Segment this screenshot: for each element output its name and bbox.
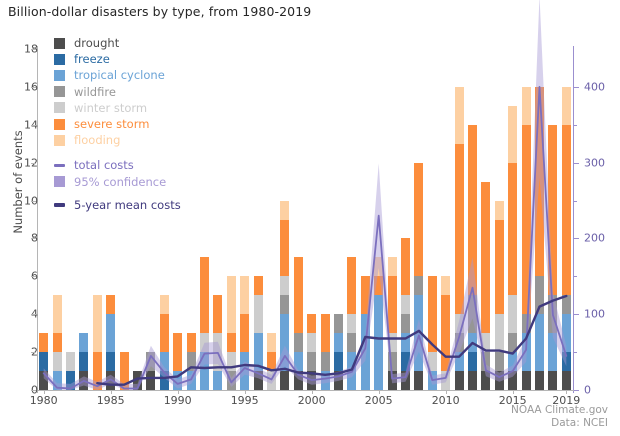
x-tick-mark-1990 — [178, 390, 179, 394]
x-tick-1990: 1990 — [164, 394, 192, 407]
y-tick-mark-right-300 — [574, 163, 579, 164]
x-axis-line — [37, 390, 574, 391]
credit-line-2: Data: NCEI — [511, 417, 608, 430]
y-tick-mark-left-10 — [31, 201, 36, 202]
legend-swatch-icon — [54, 38, 65, 49]
y-tick-right-100: 100 — [584, 308, 605, 321]
y-axis-left-label: Number of events — [11, 102, 25, 262]
y-tick-mark-left-4 — [31, 314, 36, 315]
y-tick-mark-right-0 — [574, 390, 579, 391]
x-tick-2010: 2010 — [432, 394, 460, 407]
y-axis-right-line — [573, 46, 574, 393]
y-tick-mark-left-8 — [31, 238, 36, 239]
source-credit: NOAA Climate.gov Data: NCEI — [511, 404, 608, 429]
y-tick-mark-left-16 — [31, 87, 36, 88]
y-tick-right-300: 300 — [584, 156, 605, 169]
x-tick-mark-2019 — [566, 390, 567, 394]
x-tick-mark-2000 — [312, 390, 313, 394]
chart-root: Billion-dollar disasters by type, from 1… — [0, 0, 620, 436]
y-tick-right-0: 0 — [584, 384, 591, 397]
y-tick-mark-left-0 — [31, 390, 36, 391]
y-tick-mark-left-2 — [31, 352, 36, 353]
x-tick-mark-1980 — [44, 390, 45, 394]
x-tick-1995: 1995 — [231, 394, 259, 407]
y-tick-minor-right-50 — [574, 352, 577, 353]
plot-area — [37, 49, 573, 390]
y-tick-mark-left-6 — [31, 276, 36, 277]
x-tick-mark-2010 — [446, 390, 447, 394]
x-tick-2000: 2000 — [298, 394, 326, 407]
y-tick-mark-left-14 — [31, 125, 36, 126]
x-tick-2005: 2005 — [365, 394, 393, 407]
x-tick-mark-2015 — [513, 390, 514, 394]
x-tick-1985: 1985 — [97, 394, 125, 407]
y-tick-right-400: 400 — [584, 80, 605, 93]
x-tick-mark-1985 — [111, 390, 112, 394]
y-tick-minor-right-250 — [574, 201, 577, 202]
y-tick-right-200: 200 — [584, 232, 605, 245]
y-tick-mark-right-100 — [574, 314, 579, 315]
x-tick-1980: 1980 — [30, 394, 58, 407]
y-tick-mark-right-400 — [574, 87, 579, 88]
y-tick-mark-left-18 — [31, 49, 36, 50]
y-tick-mark-left-12 — [31, 163, 36, 164]
confidence-band — [44, 0, 567, 390]
total-costs-line — [44, 87, 567, 389]
y-tick-mark-right-200 — [574, 238, 579, 239]
x-tick-mark-2005 — [379, 390, 380, 394]
y-tick-minor-right-350 — [574, 125, 577, 126]
cost-lines-layer — [37, 49, 573, 390]
credit-line-1: NOAA Climate.gov — [511, 404, 608, 417]
chart-title: Billion-dollar disasters by type, from 1… — [8, 4, 311, 19]
y-tick-minor-right-150 — [574, 276, 577, 277]
legend-label: drought — [74, 36, 119, 50]
x-tick-mark-1995 — [245, 390, 246, 394]
